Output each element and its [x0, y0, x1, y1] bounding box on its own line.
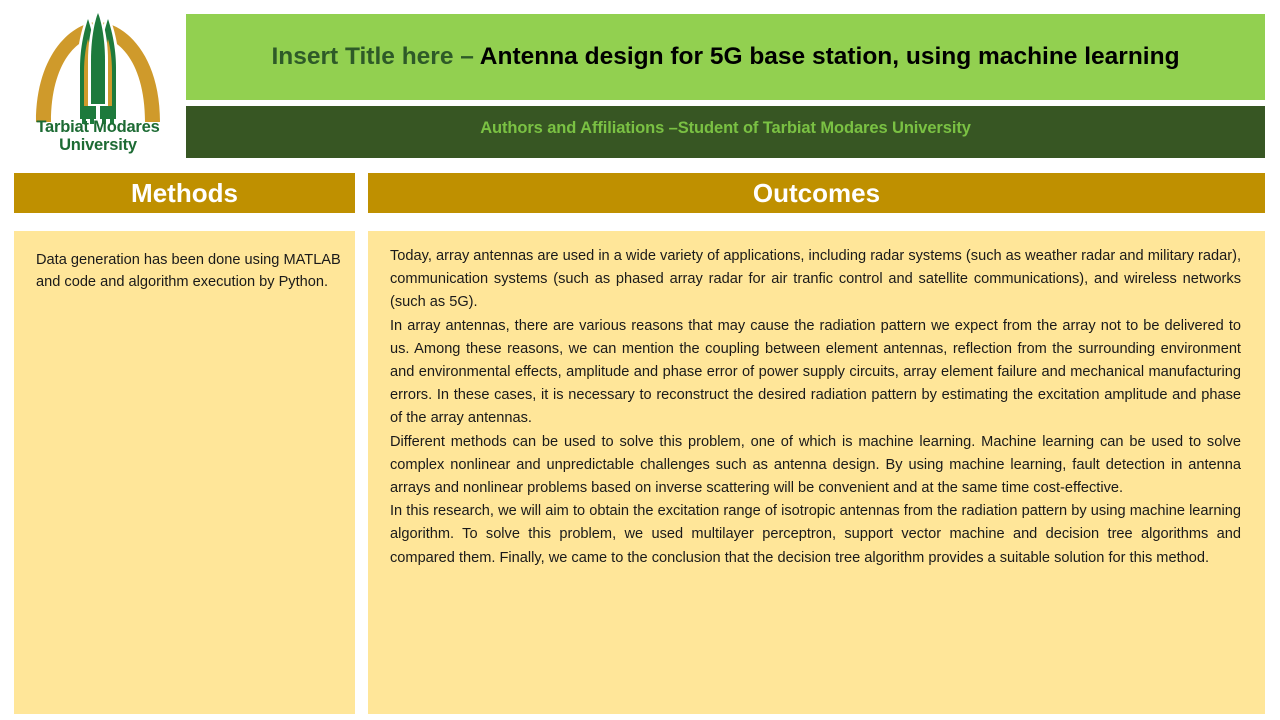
- title-main-text: Antenna design for 5G base station, usin…: [480, 43, 1180, 70]
- logo-line-2: University: [14, 136, 182, 154]
- title-placeholder-prefix: Insert Title here –: [271, 43, 479, 70]
- outcomes-section-title: Outcomes: [753, 178, 880, 208]
- university-logo-wordmark: Tarbiat Modares University: [14, 118, 182, 154]
- logo-line-1: Tarbiat Modares: [36, 118, 159, 136]
- outcomes-paragraph: In this research, we will aim to obtain …: [390, 500, 1241, 570]
- outcomes-paragraph: Different methods can be used to solve t…: [390, 431, 1241, 501]
- university-logo: Tarbiat Modares University: [14, 6, 182, 164]
- methods-section-title: Methods: [131, 178, 238, 208]
- page-title: Insert Title here – Antenna design for 5…: [271, 42, 1179, 72]
- methods-content-panel: Data generation has been done using MATL…: [14, 231, 355, 714]
- outcomes-content-panel: Today, array antennas are used in a wide…: [368, 231, 1265, 714]
- methods-body-text: Data generation has been done using MATL…: [36, 249, 341, 293]
- methods-section-header: Methods: [14, 173, 355, 213]
- authors-affiliations-text: Authors and Affiliations –Student of Tar…: [480, 119, 971, 138]
- outcomes-body-text: Today, array antennas are used in a wide…: [390, 245, 1241, 570]
- university-logo-icon: [14, 6, 182, 126]
- authors-affiliations-bar: Authors and Affiliations –Student of Tar…: [186, 106, 1265, 158]
- outcomes-paragraph: Today, array antennas are used in a wide…: [390, 245, 1241, 315]
- outcomes-section-header: Outcomes: [368, 173, 1265, 213]
- outcomes-paragraph: In array antennas, there are various rea…: [390, 315, 1241, 431]
- poster-title-bar: Insert Title here – Antenna design for 5…: [186, 14, 1265, 100]
